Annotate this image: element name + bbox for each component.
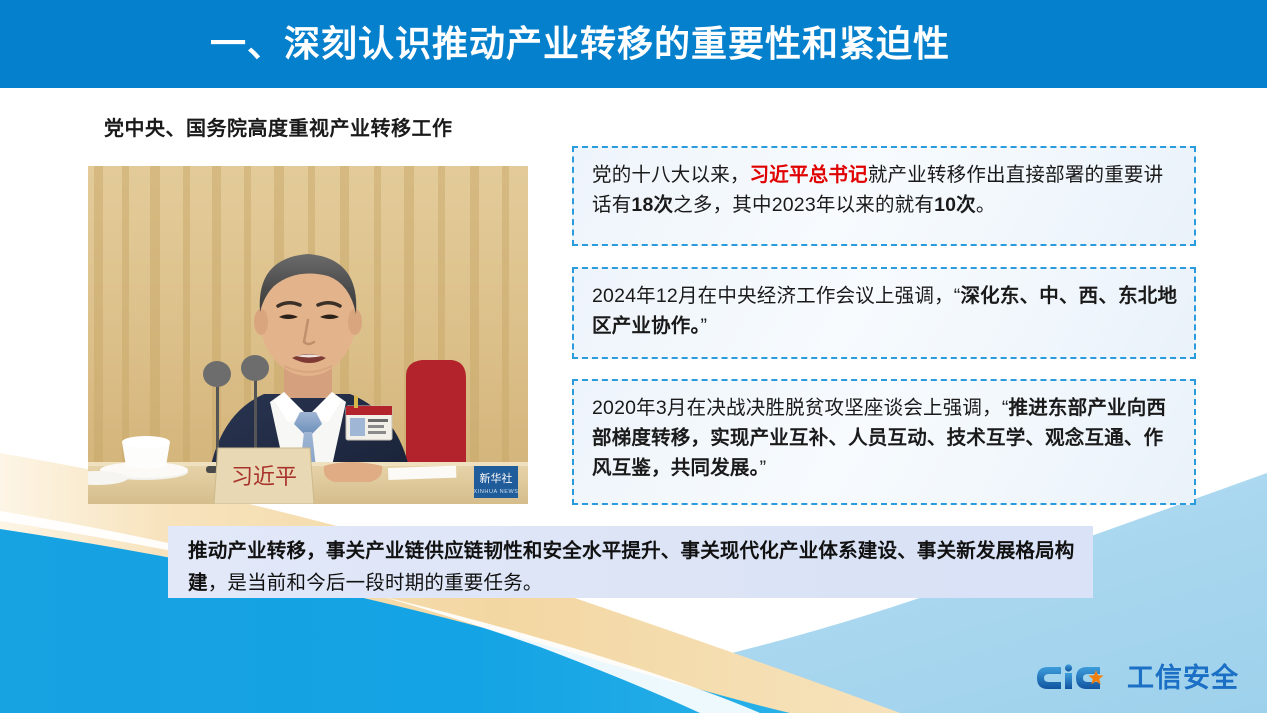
- watermark-text: 新华社: [480, 471, 513, 485]
- cic-logo: 工信安全: [1037, 661, 1239, 695]
- hands: [324, 462, 383, 482]
- summary-banner: 推动产业转移，事关产业链供应链韧性和安全水平提升、事关现代化产业体系建设、事关新…: [168, 526, 1093, 598]
- logo-text: 工信安全: [1127, 665, 1239, 692]
- leader-photo: 习近平 新华社 XINHUA NEWS: [88, 166, 528, 504]
- nameplate-text: 习近平: [231, 464, 297, 489]
- left-column: 党中央、国务院高度重视产业转移工作: [88, 112, 538, 157]
- quote-text-3: 2020年3月在决战决胜脱贫攻坚座谈会上强调，“推进东部产业向西部梯度转移，实现…: [592, 393, 1178, 484]
- slide-root: 一、深刻认识推动产业转移的重要性和紧迫性 党中央、国务院高度重视产业转移工作: [0, 0, 1267, 713]
- quote-box-2: 2024年12月在中央经济工作会议上强调，“深化东、中、西、东北地区产业协作。”: [572, 267, 1196, 359]
- summary-text: 推动产业转移，事关产业链供应链韧性和安全水平提升、事关现代化产业体系建设、事关新…: [188, 536, 1075, 599]
- quote-text-2: 2024年12月在中央经济工作会议上强调，“深化东、中、西、东北地区产业协作。”: [592, 281, 1178, 341]
- page-title: 一、深刻认识推动产业转移的重要性和紧迫性: [210, 26, 950, 62]
- section-heading: 党中央、国务院高度重视产业转移工作: [104, 112, 538, 141]
- leader-photo-svg: 习近平 新华社 XINHUA NEWS: [88, 166, 528, 504]
- chair-back: [406, 360, 466, 466]
- nameplate: 习近平: [214, 448, 314, 504]
- quote-box-3: 2020年3月在决战决胜脱贫攻坚座谈会上强调，“推进东部产业向西部梯度转移，实现…: [572, 379, 1196, 505]
- cic-logomark-icon: [1037, 661, 1123, 695]
- quote-text-1: 党的十八大以来，习近平总书记就产业转移作出直接部署的重要讲话有18次之多，其中2…: [592, 160, 1178, 220]
- xinhua-watermark: 新华社 XINHUA NEWS: [473, 466, 518, 498]
- quote-box-1: 党的十八大以来，习近平总书记就产业转移作出直接部署的重要讲话有18次之多，其中2…: [572, 146, 1196, 246]
- watermark-sub: XINHUA NEWS: [473, 489, 518, 495]
- slide-header: 一、深刻认识推动产业转移的重要性和紧迫性: [0, 0, 1267, 88]
